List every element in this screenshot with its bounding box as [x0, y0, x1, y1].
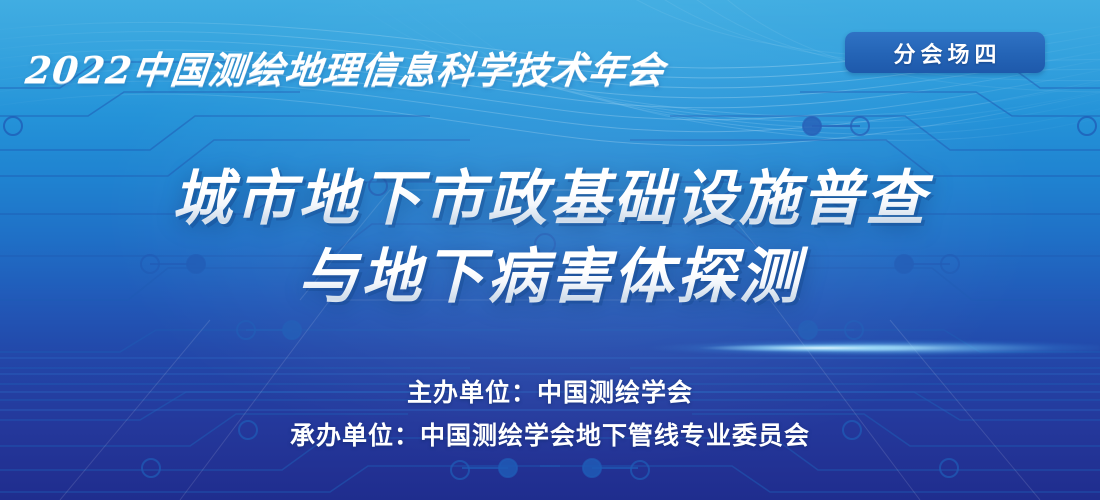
session-badge: 分会场四	[845, 32, 1045, 73]
organizer-block: 主办单位：中国测绘学会 承办单位：中国测绘学会地下管线专业委员会	[0, 372, 1100, 458]
light-beam-core	[640, 340, 970, 356]
conference-banner: 2022中国测绘地理信息科学技术年会 分会场四 城市地下市政基础设施普查 与地下…	[0, 0, 1100, 500]
light-beam-glow	[330, 326, 1100, 370]
session-badge-label: 分会场四	[888, 37, 1001, 69]
conference-title: 2022中国测绘地理信息科学技术年会	[23, 40, 749, 94]
organizer-line-host: 主办单位：中国测绘学会	[0, 372, 1100, 415]
headline-block: 城市地下市政基础设施普查 与地下病害体探测	[0, 160, 1100, 316]
headline-line-2: 与地下病害体探测	[0, 238, 1100, 316]
headline-line-1: 城市地下市政基础设施普查	[0, 160, 1100, 238]
organizer-line-undertaker: 承办单位：中国测绘学会地下管线专业委员会	[0, 415, 1100, 458]
